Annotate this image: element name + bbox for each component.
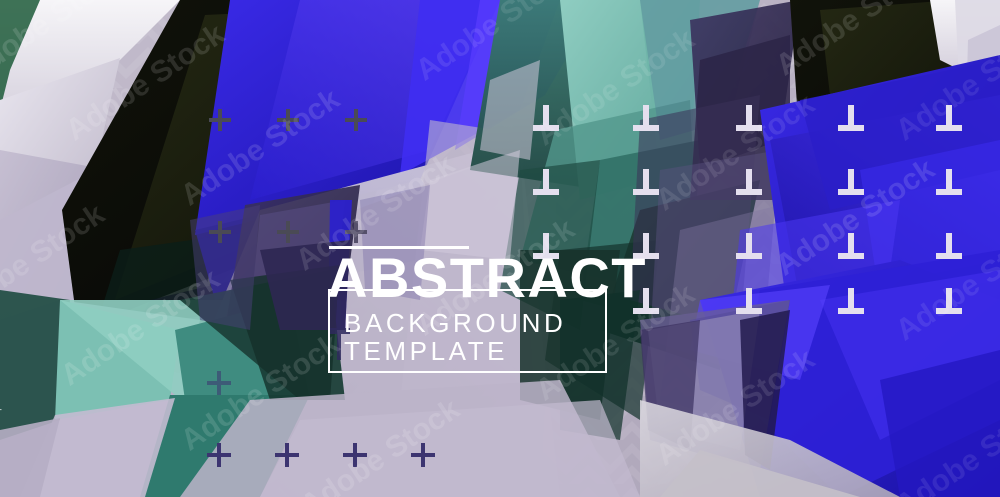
- abstract-background-image: ABSTRACT BACKGROUND TEMPLATE Adobe Stock…: [0, 0, 1000, 497]
- polygon-shapes-layer: [0, 0, 1000, 497]
